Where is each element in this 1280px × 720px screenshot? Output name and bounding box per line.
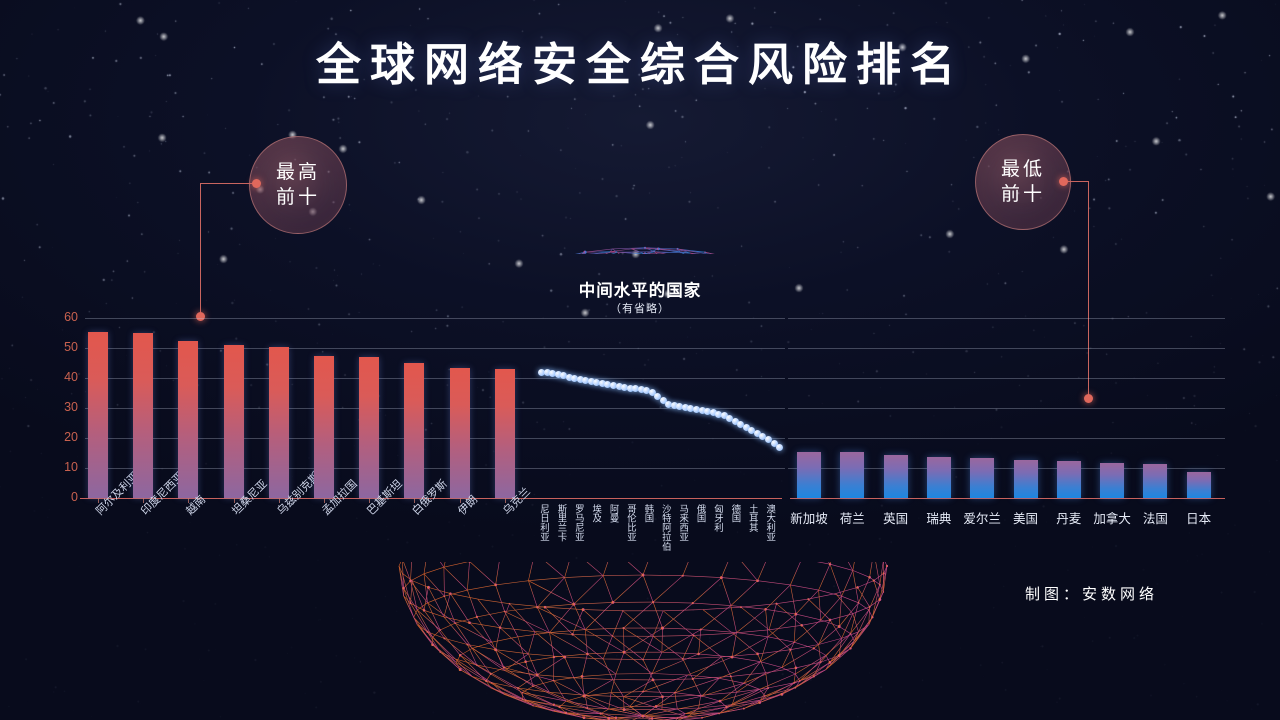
data-point-middle <box>660 397 667 404</box>
gridline <box>788 438 1225 439</box>
globe-wireframe-top-icon <box>395 104 895 254</box>
gridline <box>540 438 785 439</box>
gridline <box>788 408 1225 409</box>
x-axis-label-right: 荷兰 <box>827 508 877 527</box>
data-point-middle <box>732 418 739 425</box>
data-point-middle <box>743 424 750 431</box>
x-axis-label-right: 新加坡 <box>784 508 834 527</box>
data-point-middle <box>599 380 606 387</box>
bar-left <box>269 347 289 499</box>
axis-tick <box>279 498 280 503</box>
infographic-root: 全球网络安全综合风险排名 最高 前十 最低 前十 中间水平的国家 （有省略） 0… <box>0 0 1280 720</box>
baseline-right <box>790 498 1225 499</box>
data-point-middle <box>560 372 567 379</box>
data-point-middle <box>737 421 744 428</box>
data-point-middle <box>665 401 672 408</box>
y-axis-label: 40 <box>52 370 78 384</box>
axis-tick <box>414 498 415 503</box>
middle-panel-subtitle: （有省略） <box>0 300 1280 316</box>
lead-dot-high-circle <box>252 179 261 188</box>
data-point-middle <box>765 436 772 443</box>
x-axis-label-right: 美国 <box>1001 508 1051 527</box>
gridline <box>540 468 785 469</box>
axis-tick <box>188 498 189 503</box>
data-point-middle <box>771 440 778 447</box>
data-point-middle <box>643 387 650 394</box>
data-point-middle <box>759 433 766 440</box>
bar-right <box>840 452 864 498</box>
data-point-middle <box>649 389 656 396</box>
x-axis-label-middle: 罗马尼亚 <box>572 504 586 542</box>
x-axis-label-middle: 澳大利亚 <box>763 504 777 542</box>
gridline <box>788 318 1225 319</box>
globe-wireframe-bottom-icon <box>398 562 888 720</box>
lead-dot-low-circle <box>1059 177 1068 186</box>
data-point-middle <box>621 384 628 391</box>
data-point-middle <box>610 382 617 389</box>
x-axis-label-left: 伊朗 <box>454 491 481 518</box>
data-point-middle <box>715 411 722 418</box>
bar-left <box>314 356 334 499</box>
x-axis-label-middle: 斯里兰卡 <box>554 504 568 542</box>
callout-high-line1: 最高 <box>276 160 320 185</box>
bar-left <box>133 333 153 498</box>
bar-right <box>1100 463 1124 498</box>
data-point-middle <box>577 376 584 383</box>
baseline-left <box>80 498 542 499</box>
axis-tick <box>505 498 506 503</box>
data-point-middle <box>588 378 595 385</box>
data-point-middle <box>671 402 678 409</box>
axis-tick <box>460 498 461 503</box>
x-axis-label-middle: 匈牙利 <box>711 504 725 532</box>
gridline <box>788 378 1225 379</box>
gridline <box>85 378 540 379</box>
gridline <box>540 378 785 379</box>
credit-line: 制图：安数网络 <box>1025 583 1158 604</box>
x-axis-label-middle: 阿曼 <box>607 504 621 523</box>
x-axis-label-middle: 埃及 <box>589 504 603 523</box>
x-axis-label-middle: 哥伦比亚 <box>624 504 638 542</box>
bar-left <box>359 357 379 498</box>
bar-right <box>797 452 821 499</box>
x-axis-label-right: 爱尔兰 <box>957 508 1007 527</box>
gridline <box>540 348 785 349</box>
x-axis-label-left: 印度尼西亚 <box>137 468 187 518</box>
x-axis-label-right: 丹麦 <box>1044 508 1094 527</box>
data-point-middle <box>676 403 683 410</box>
data-point-middle <box>776 444 783 451</box>
x-axis-label-middle: 韩国 <box>641 504 655 523</box>
data-point-middle <box>593 379 600 386</box>
bar-right <box>927 457 951 498</box>
y-axis-label: 20 <box>52 430 78 444</box>
bar-right <box>970 458 994 499</box>
data-point-middle <box>538 369 545 376</box>
middle-panel-title: 中间水平的国家 <box>0 277 1280 301</box>
bar-left <box>224 345 244 498</box>
axis-tick <box>98 498 99 503</box>
x-axis-label-left: 巴基斯坦 <box>363 476 405 518</box>
y-axis-label: 30 <box>52 400 78 414</box>
data-point-middle <box>704 408 711 415</box>
x-axis-label-middle: 土耳其 <box>746 504 760 532</box>
x-axis-label-middle: 德国 <box>728 504 742 523</box>
data-point-middle <box>627 385 634 392</box>
data-point-middle <box>721 412 728 419</box>
data-point-middle <box>616 383 623 390</box>
baseline-middle <box>538 498 782 499</box>
lead-line-high-horizontal <box>200 183 256 184</box>
callout-high-line2: 前十 <box>276 185 320 210</box>
page-title: 全球网络安全综合风险排名 <box>0 28 1280 93</box>
x-axis-label-left: 阿尔及利亚 <box>92 468 142 518</box>
axis-tick <box>143 498 144 503</box>
x-axis-label-left: 乌兹别克斯坦 <box>273 460 331 518</box>
bar-right <box>884 455 908 498</box>
x-axis-label-middle: 沙特阿拉伯 <box>659 504 673 551</box>
callout-low-line1: 最低 <box>1001 157 1045 182</box>
data-point-middle <box>687 405 694 412</box>
x-axis-label-right: 日本 <box>1174 508 1224 527</box>
data-point-middle <box>604 381 611 388</box>
x-axis-label-middle: 马来西亚 <box>676 504 690 542</box>
gridline <box>85 408 540 409</box>
gridline <box>540 408 785 409</box>
data-point-middle <box>682 404 689 411</box>
data-point-middle <box>549 370 556 377</box>
bar-left <box>404 363 424 498</box>
bar-right <box>1057 461 1081 498</box>
x-axis-label-left: 乌克兰 <box>499 484 534 519</box>
data-point-middle <box>726 415 733 422</box>
x-axis-label-right: 瑞典 <box>914 508 964 527</box>
bar-left <box>88 332 108 499</box>
callout-low-line2: 前十 <box>1001 182 1045 207</box>
callout-highest-top-ten: 最高 前十 <box>249 136 347 234</box>
bar-left <box>495 369 515 498</box>
gridline <box>85 438 540 439</box>
axis-tick <box>234 498 235 503</box>
callout-lowest-top-ten: 最低 前十 <box>975 134 1071 230</box>
data-point-middle <box>632 385 639 392</box>
data-point-middle <box>699 407 706 414</box>
x-axis-label-right: 英国 <box>871 508 921 527</box>
data-point-middle <box>555 371 562 378</box>
lead-dot-low-chart <box>1084 394 1093 403</box>
x-axis-label-left: 孟加拉国 <box>318 476 360 518</box>
x-axis-label-left: 越南 <box>182 491 209 518</box>
gridline <box>788 468 1225 469</box>
data-point-middle <box>754 430 761 437</box>
gridline <box>85 468 540 469</box>
data-point-middle <box>654 393 661 400</box>
data-point-middle <box>582 377 589 384</box>
x-axis-label-middle: 俄国 <box>694 504 708 523</box>
bar-right <box>1187 472 1211 498</box>
x-axis-label-right: 法国 <box>1130 508 1180 527</box>
gridline <box>85 318 540 319</box>
data-point-middle <box>710 409 717 416</box>
y-axis-label: 10 <box>52 460 78 474</box>
bar-left <box>450 368 470 499</box>
y-axis-label: 0 <box>52 490 78 504</box>
x-axis-label-middle: 尼日利亚 <box>537 504 551 542</box>
gridline <box>85 348 540 349</box>
data-point-middle <box>544 369 551 376</box>
bar-right <box>1014 460 1038 498</box>
gridline <box>788 348 1225 349</box>
data-point-middle <box>693 406 700 413</box>
x-axis-label-right: 加拿大 <box>1087 508 1137 527</box>
axis-tick <box>369 498 370 503</box>
data-point-middle <box>571 375 578 382</box>
data-point-middle <box>748 427 755 434</box>
y-axis-label: 50 <box>52 340 78 354</box>
data-point-middle <box>566 374 573 381</box>
x-axis-label-left: 坦桑尼亚 <box>228 476 270 518</box>
bar-right <box>1143 464 1167 498</box>
x-axis-label-left: 白俄罗斯 <box>408 476 450 518</box>
bar-left <box>178 341 198 499</box>
axis-tick <box>324 498 325 503</box>
gridline <box>540 318 785 319</box>
data-point-middle <box>638 386 645 393</box>
